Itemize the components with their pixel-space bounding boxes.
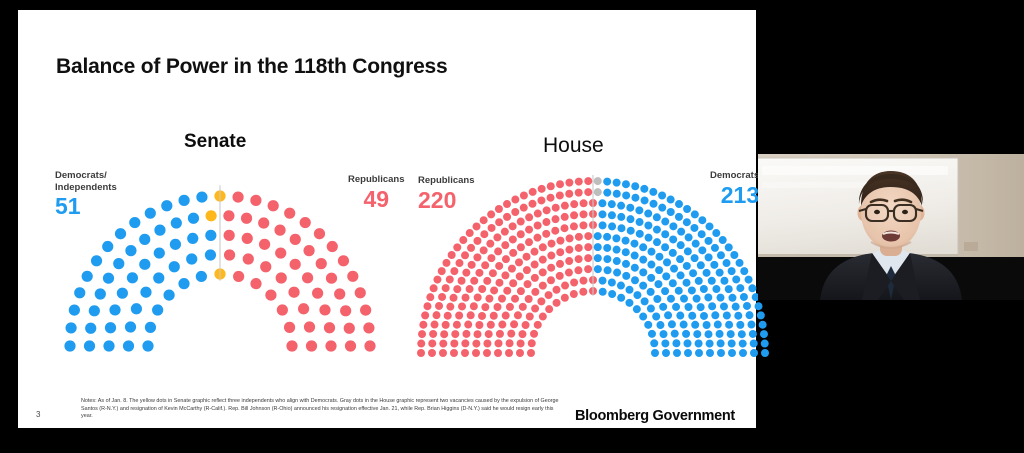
- seat-dot: [481, 261, 489, 269]
- seat-dot: [676, 312, 684, 320]
- seat-dot: [728, 294, 736, 302]
- seat-dot: [459, 236, 467, 244]
- seat-dot: [131, 303, 142, 314]
- seat-dot: [656, 321, 664, 329]
- seat-dot: [508, 265, 516, 273]
- seat-dot: [442, 321, 450, 329]
- seat-dot: [487, 254, 495, 262]
- seat-dot: [502, 312, 510, 320]
- seat-dot: [498, 295, 506, 303]
- seat-dot: [327, 241, 338, 252]
- seat-dot: [575, 189, 583, 197]
- seat-dot: [89, 305, 100, 316]
- participant-video-frame: [758, 154, 1024, 300]
- seat-dot: [539, 243, 547, 251]
- seat-dot: [685, 303, 693, 311]
- seat-dot: [487, 321, 495, 329]
- seat-dot: [551, 227, 559, 235]
- house-chamber-heading: House: [543, 134, 604, 158]
- seat-dot: [603, 233, 611, 241]
- seat-dot: [662, 349, 670, 357]
- seat-dot: [539, 256, 547, 264]
- seat-dot: [594, 265, 602, 273]
- seat-dot: [710, 261, 718, 269]
- seat-dot: [556, 237, 564, 245]
- seat-dot: [439, 349, 447, 357]
- seat-dot: [700, 285, 708, 293]
- seat-dot: [530, 330, 538, 338]
- seat-dot: [603, 178, 611, 186]
- seat-dot: [506, 303, 514, 311]
- seat-dot: [475, 321, 483, 329]
- seat-dot: [565, 190, 573, 198]
- seat-dot: [691, 321, 699, 329]
- seat-dot: [669, 279, 677, 287]
- seat-dot: [728, 267, 736, 275]
- seat-dot: [675, 287, 683, 295]
- seat-dot: [565, 246, 573, 254]
- seat-dot: [524, 280, 532, 288]
- seat-dot: [224, 230, 235, 241]
- seat-dot: [584, 243, 592, 251]
- seat-dot: [574, 266, 582, 274]
- seat-dot: [594, 177, 602, 185]
- seat-dot: [649, 188, 657, 196]
- seat-dot: [473, 222, 481, 230]
- shelf-object: [964, 242, 978, 251]
- seat-dot: [708, 277, 716, 285]
- seat-dot: [169, 261, 180, 272]
- seat-dot: [647, 274, 655, 282]
- seat-dot: [653, 295, 661, 303]
- seat-dot: [494, 247, 502, 255]
- seat-dot: [450, 294, 458, 302]
- seat-dot: [433, 276, 441, 284]
- seat-dot: [673, 349, 681, 357]
- seat-dot: [440, 330, 448, 338]
- seat-dot: [682, 330, 690, 338]
- seat-dot: [750, 349, 758, 357]
- seat-dot: [435, 302, 443, 310]
- presentation-slide: Balance of Power in the 118th Congress S…: [18, 10, 756, 428]
- seat-dot: [542, 230, 550, 238]
- seat-dot: [561, 202, 569, 210]
- seat-dot: [539, 313, 547, 321]
- seat-dot: [517, 243, 525, 251]
- seat-dot: [364, 340, 375, 351]
- seat-dot: [672, 303, 680, 311]
- seat-dot: [490, 286, 498, 294]
- seat-dot: [462, 294, 470, 302]
- seat-dot: [547, 182, 555, 190]
- seat-dot: [509, 235, 517, 243]
- slide-notes: Notes: As of Jan. 8. The yellow dots in …: [81, 398, 561, 421]
- seat-dot: [579, 221, 587, 229]
- seat-dot: [142, 340, 153, 351]
- seat-dot: [543, 206, 551, 214]
- seat-dot: [736, 321, 744, 329]
- seat-dot: [534, 222, 542, 230]
- seat-dot: [470, 302, 478, 310]
- seat-dot: [717, 251, 725, 259]
- seat-dot: [507, 330, 515, 338]
- seat-dot: [259, 239, 270, 250]
- seat-dot: [627, 215, 635, 223]
- seat-dot: [613, 257, 621, 265]
- seat-dot: [594, 232, 602, 240]
- seat-dot: [538, 185, 546, 193]
- seat-dot: [716, 330, 724, 338]
- seat-dot: [145, 208, 156, 219]
- seat-dot: [493, 233, 501, 241]
- seat-dot: [547, 264, 555, 272]
- seat-dot: [644, 222, 652, 230]
- seat-dot: [622, 180, 630, 188]
- seat-dot: [525, 213, 533, 221]
- seat-dot: [188, 213, 199, 224]
- seat-dot: [684, 339, 692, 347]
- seat-dot: [631, 264, 639, 272]
- seat-dot: [613, 179, 621, 187]
- seat-dot: [695, 277, 703, 285]
- seat-dot: [355, 287, 366, 298]
- seat-dot: [451, 330, 459, 338]
- seat-dot: [631, 252, 639, 260]
- seat-dot: [556, 272, 564, 280]
- seat-dot: [725, 321, 733, 329]
- seat-dot: [684, 349, 692, 357]
- seat-dot: [417, 349, 425, 357]
- seat-dot: [639, 282, 647, 290]
- seat-dot: [298, 303, 309, 314]
- seat-dot: [575, 255, 583, 263]
- seat-dot: [705, 222, 713, 230]
- seat-dot: [680, 295, 688, 303]
- seat-dot: [663, 258, 671, 266]
- participant-name-overlay: whiteboard on beige wall: [764, 290, 841, 297]
- seat-dot: [691, 210, 699, 218]
- seat-dot: [516, 349, 524, 357]
- seat-dot: [759, 321, 767, 329]
- seat-dot: [639, 243, 647, 251]
- seat-dot: [594, 243, 602, 251]
- seat-dot: [746, 311, 754, 319]
- seat-dot: [439, 340, 447, 348]
- seat-dot: [647, 305, 655, 313]
- seat-dot: [669, 222, 677, 230]
- senate-arch-svg: [48, 178, 393, 353]
- seat-dot: [286, 340, 297, 351]
- seat-dot: [430, 284, 438, 292]
- seat-dot: [631, 194, 639, 202]
- seat-dot: [750, 339, 758, 347]
- seat-dot: [205, 210, 216, 221]
- seat-dot: [556, 260, 564, 268]
- seat-dot: [517, 339, 525, 347]
- seat-dot: [704, 293, 712, 301]
- seat-dot: [531, 248, 539, 256]
- seat-dot: [712, 285, 720, 293]
- seat-dot: [233, 271, 244, 282]
- seat-dot: [113, 258, 124, 269]
- seat-dot: [580, 210, 588, 218]
- seat-dot: [205, 230, 216, 241]
- seat-dot: [526, 313, 534, 321]
- seat-dot: [698, 246, 706, 254]
- seat-dot: [633, 291, 641, 299]
- seat-dot: [241, 213, 252, 224]
- seat-dot: [622, 248, 630, 256]
- seat-dot: [455, 312, 463, 320]
- seat-dot: [700, 312, 708, 320]
- seat-dot: [468, 261, 476, 269]
- seat-dot: [277, 304, 288, 315]
- seat-dot: [594, 188, 602, 196]
- seat-dot: [545, 305, 553, 313]
- seat-dot: [725, 285, 733, 293]
- participant-video-tile[interactable]: whiteboard on beige wall: [758, 154, 1024, 300]
- seat-dot: [117, 288, 128, 299]
- seat-dot: [250, 195, 261, 206]
- seat-dot: [129, 217, 140, 228]
- seat-dot: [575, 244, 583, 252]
- seat-dot: [531, 274, 539, 282]
- seat-dot: [334, 288, 345, 299]
- seat-dot: [302, 272, 313, 283]
- seat-dot: [480, 246, 488, 254]
- seat-dot: [531, 305, 539, 313]
- seat-dot: [617, 282, 625, 290]
- seat-dot: [453, 243, 461, 251]
- seat-dot: [659, 303, 667, 311]
- seat-dot: [723, 312, 731, 320]
- seat-dot: [755, 302, 763, 310]
- seat-dot: [566, 234, 574, 242]
- seat-dot: [453, 285, 461, 293]
- seat-dot: [661, 230, 669, 238]
- seat-dot: [446, 275, 454, 283]
- seat-dot: [461, 349, 469, 357]
- seat-dot: [548, 240, 556, 248]
- seat-dot: [154, 247, 165, 258]
- seat-dot: [608, 200, 616, 208]
- seat-dot: [667, 295, 675, 303]
- seat-dot: [645, 234, 653, 242]
- seat-dot: [612, 234, 620, 242]
- seat-dot: [514, 311, 522, 319]
- seat-dot: [486, 240, 494, 248]
- seat-dot: [622, 260, 630, 268]
- seat-dot: [224, 249, 235, 260]
- seat-dot: [639, 268, 647, 276]
- seat-dot: [446, 303, 454, 311]
- seat-dot: [496, 330, 504, 338]
- seat-dot: [170, 239, 181, 250]
- seat-dot: [475, 269, 483, 277]
- seat-dot: [570, 222, 578, 230]
- seat-dot: [345, 340, 356, 351]
- seat-dot: [703, 321, 711, 329]
- seat-dot: [312, 288, 323, 299]
- seat-dot: [139, 259, 150, 270]
- seat-dot: [740, 293, 748, 301]
- seat-dot: [689, 269, 697, 277]
- seat-dot: [515, 258, 523, 266]
- seat-dot: [695, 340, 703, 348]
- seat-dot: [458, 302, 466, 310]
- seat-dot: [450, 349, 458, 357]
- seat-dot: [648, 248, 656, 256]
- seat-dot: [442, 259, 450, 267]
- seat-dot: [455, 259, 463, 267]
- seat-dot: [608, 211, 616, 219]
- seat-dot: [622, 237, 630, 245]
- seat-dot: [84, 340, 95, 351]
- seat-dot: [738, 330, 746, 338]
- house-arch-svg: [413, 175, 773, 360]
- seat-dot: [711, 311, 719, 319]
- seat-dot: [466, 229, 474, 237]
- seat-dot: [268, 200, 279, 211]
- seat-dot: [458, 277, 466, 285]
- seat-dot: [661, 243, 669, 251]
- seat-dot: [651, 349, 659, 357]
- seat-dot: [503, 213, 511, 221]
- meeting-stage: Balance of Power in the 118th Congress S…: [0, 0, 1024, 453]
- seat-dot: [712, 229, 720, 237]
- seat-dot: [489, 269, 497, 277]
- seat-dot: [140, 287, 151, 298]
- seat-dot: [711, 244, 719, 252]
- participant-eye-left: [874, 210, 880, 214]
- seat-dot: [757, 311, 765, 319]
- seat-dot: [523, 266, 531, 274]
- seat-dot: [478, 312, 486, 320]
- seat-dot: [64, 340, 75, 351]
- seat-dot: [603, 244, 611, 252]
- seat-dot: [347, 271, 358, 282]
- seat-dot: [584, 188, 592, 196]
- seat-dot: [748, 284, 756, 292]
- seat-dot: [584, 254, 592, 262]
- seat-dot: [303, 245, 314, 256]
- seat-dot: [667, 208, 675, 216]
- page-title: Balance of Power in the 118th Congress: [56, 55, 448, 79]
- seat-dot: [561, 213, 569, 221]
- seat-dot: [74, 287, 85, 298]
- seat-dot: [525, 226, 533, 234]
- seat-dot: [306, 340, 317, 351]
- seat-dot: [102, 241, 113, 252]
- house-seat-arch-chart: [413, 175, 773, 360]
- seat-dot: [417, 340, 425, 348]
- seat-dot: [728, 349, 736, 357]
- seat-dot: [274, 225, 285, 236]
- seat-dot: [509, 249, 517, 257]
- seat-dot: [760, 330, 768, 338]
- seat-dot: [179, 195, 190, 206]
- seat-dot: [580, 199, 588, 207]
- seat-dot: [442, 284, 450, 292]
- seat-dot: [525, 295, 533, 303]
- seat-dot: [338, 255, 349, 266]
- seat-dot: [650, 339, 658, 347]
- seat-dot: [494, 303, 502, 311]
- senate-seat-arch-chart: [48, 178, 393, 353]
- seat-dot: [139, 234, 150, 245]
- seat-dot: [570, 278, 578, 286]
- seat-dot: [683, 205, 691, 213]
- seat-dot: [622, 191, 630, 199]
- seat-dot: [675, 200, 683, 208]
- seat-dot: [145, 322, 156, 333]
- seat-dot: [95, 288, 106, 299]
- seat-dot: [717, 339, 725, 347]
- seat-dot: [103, 273, 114, 284]
- seat-dot: [242, 233, 253, 244]
- page-number: 3: [36, 410, 40, 419]
- seat-dot: [653, 238, 661, 246]
- seat-dot: [617, 294, 625, 302]
- seat-dot: [732, 275, 740, 283]
- seat-dot: [677, 228, 685, 236]
- seat-dot: [498, 321, 506, 329]
- seat-dot: [661, 339, 669, 347]
- seat-dot: [503, 200, 511, 208]
- seat-dot: [658, 204, 666, 212]
- seat-dot: [187, 233, 198, 244]
- seat-dot: [125, 245, 136, 256]
- seat-dot: [669, 235, 677, 243]
- seat-dot: [671, 330, 679, 338]
- seat-dot: [683, 279, 691, 287]
- seat-dot: [483, 277, 491, 285]
- seat-dot: [495, 279, 503, 287]
- seat-dot: [537, 196, 545, 204]
- seat-dot: [575, 178, 583, 186]
- seat-dot: [433, 311, 441, 319]
- seat-dot: [685, 233, 693, 241]
- seat-dot: [325, 340, 336, 351]
- seat-dot: [579, 277, 587, 285]
- seat-dot: [556, 248, 564, 256]
- seat-dot: [528, 339, 536, 347]
- seat-dot: [695, 349, 703, 357]
- seat-dot: [511, 295, 519, 303]
- seat-dot: [732, 303, 740, 311]
- seat-dot: [520, 204, 528, 212]
- seat-dot: [677, 271, 685, 279]
- seat-dot: [529, 188, 537, 196]
- seat-dot: [324, 322, 335, 333]
- participant-eye-right: [902, 210, 908, 214]
- seat-dot: [547, 276, 555, 284]
- seat-dot: [706, 340, 714, 348]
- seat-dot: [520, 191, 528, 199]
- seat-dot: [223, 210, 234, 221]
- seat-dot: [429, 330, 437, 338]
- seat-dot: [485, 330, 493, 338]
- seat-dot: [82, 271, 93, 282]
- seat-dot: [639, 256, 647, 264]
- seat-dot: [462, 269, 470, 277]
- seat-dot: [186, 253, 197, 264]
- seat-dot: [127, 272, 138, 283]
- seat-dot: [599, 277, 607, 285]
- seat-dot: [717, 349, 725, 357]
- seat-dot: [316, 258, 327, 269]
- seat-dot: [693, 295, 701, 303]
